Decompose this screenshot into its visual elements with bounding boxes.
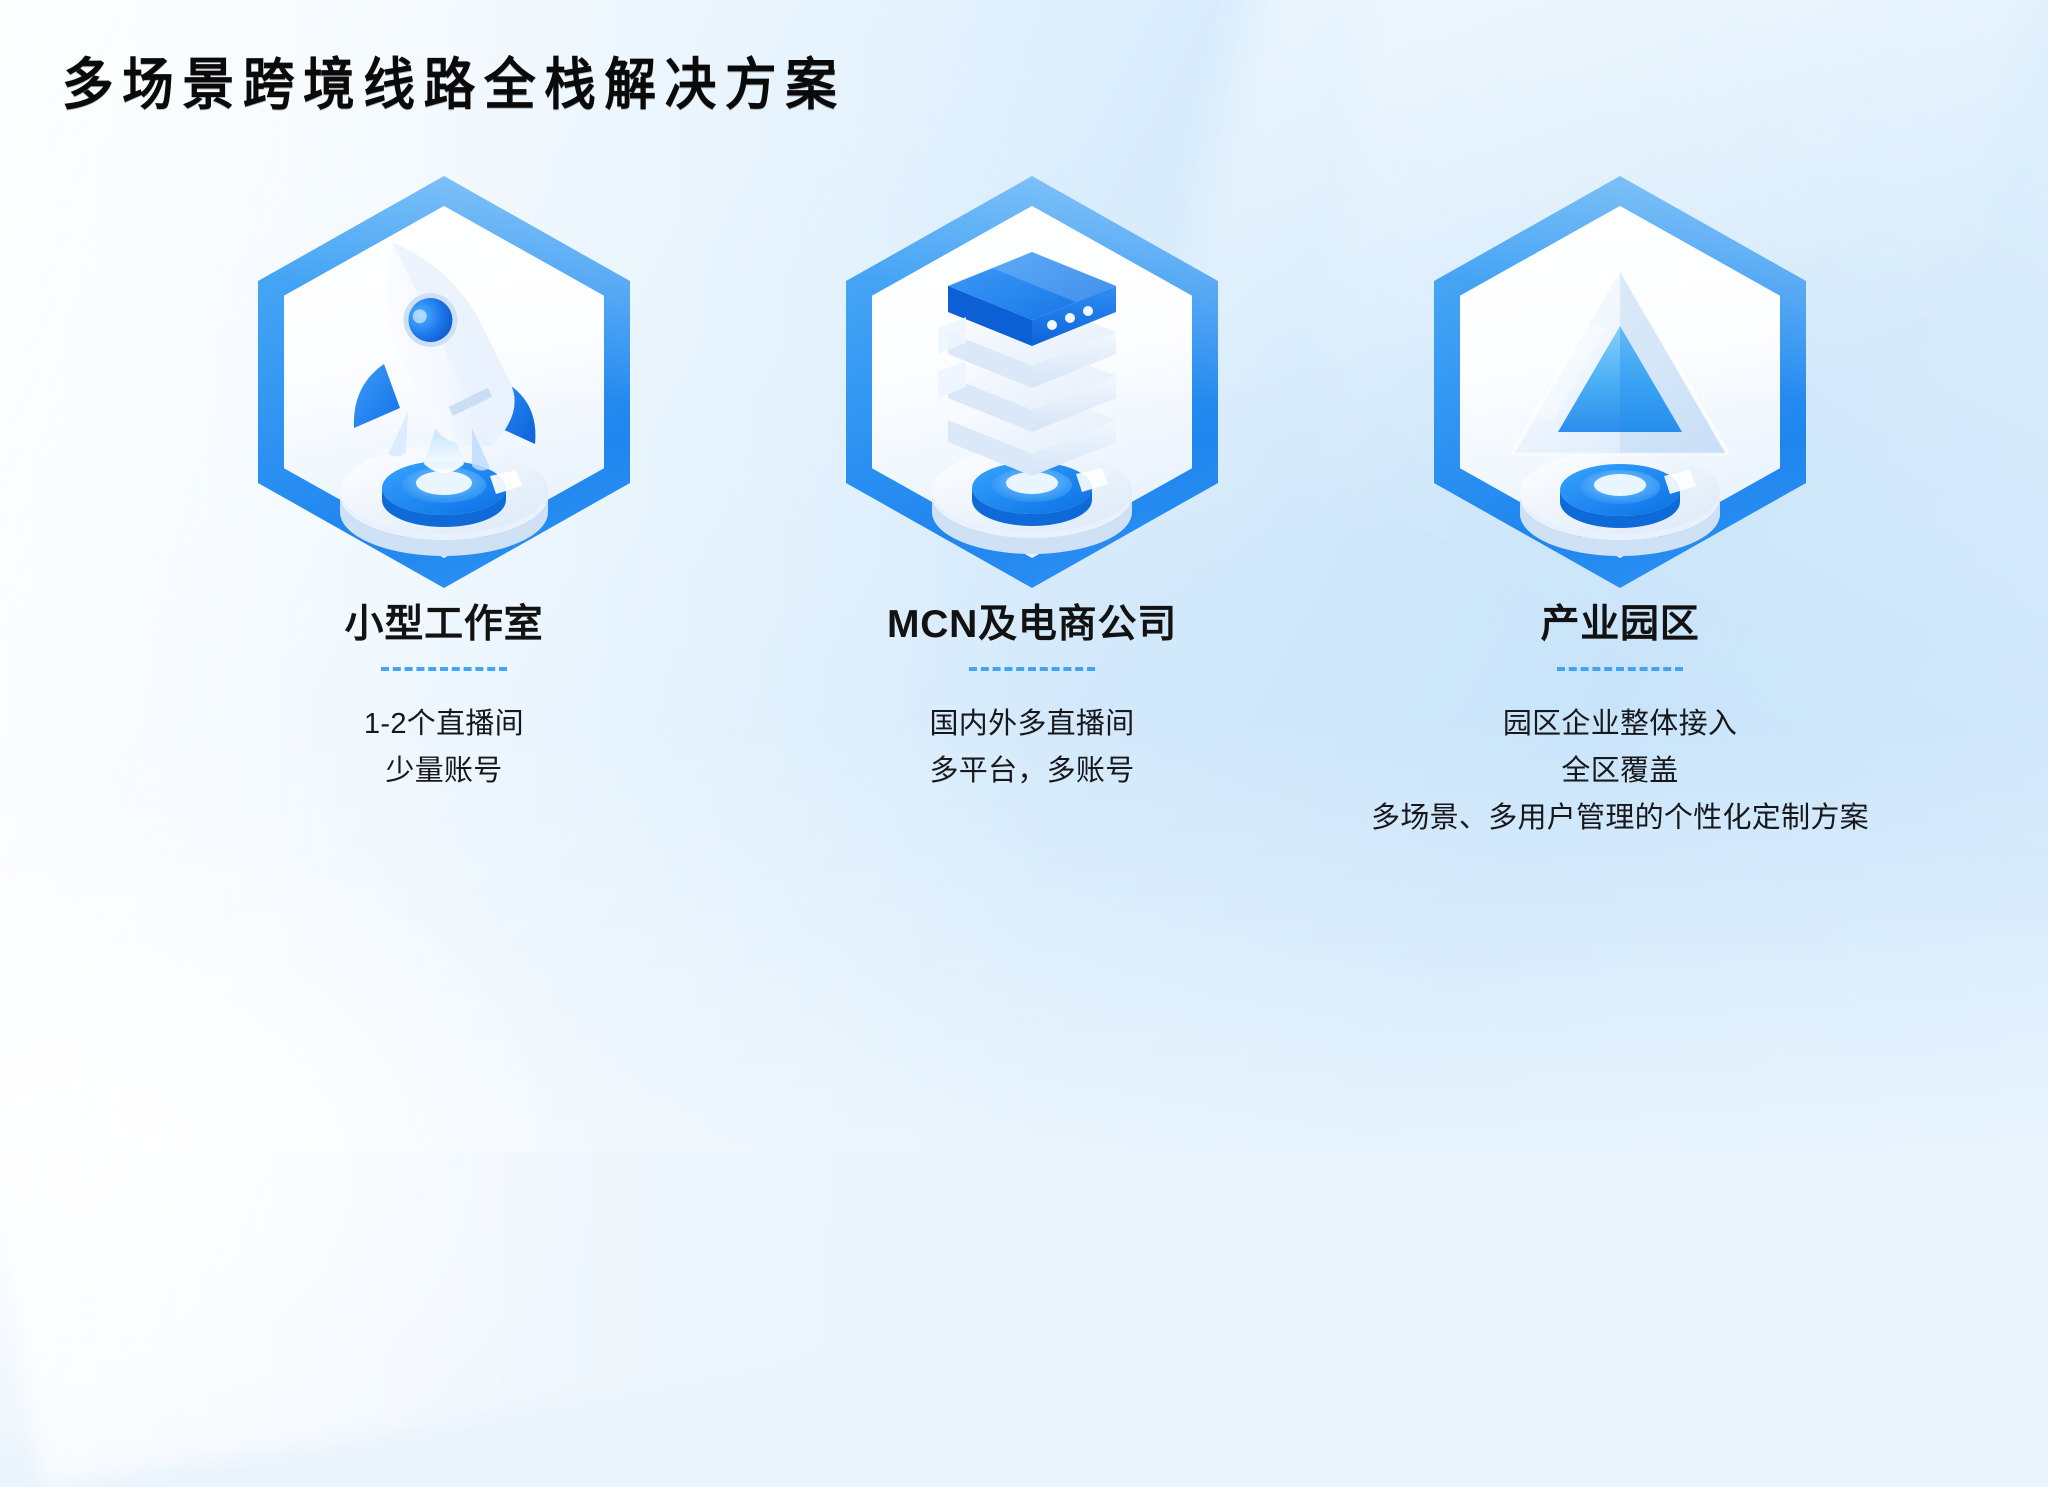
card-divider (381, 667, 507, 671)
description-line: 全区覆盖 (1371, 748, 1869, 795)
card-divider (969, 667, 1095, 671)
description-line: 国内外多直播间 (929, 701, 1134, 748)
scenario-card-small-studio[interactable]: 小型工作室 1-2个直播间 少量账号 (150, 176, 738, 795)
card-title: MCN及电商公司 (887, 602, 1177, 649)
description-line: 少量账号 (364, 748, 524, 795)
card-description: 园区企业整体接入 全区覆盖 多场景、多用户管理的个性化定制方案 (1371, 701, 1869, 842)
card-title: 小型工作室 (345, 602, 544, 649)
description-line: 1-2个直播间 (364, 701, 524, 748)
page-title: 多场景跨境线路全栈解决方案 (62, 54, 846, 116)
card-divider (1557, 667, 1683, 671)
pyramid-badge-icon (1434, 176, 1806, 588)
card-description: 1-2个直播间 少量账号 (364, 701, 524, 795)
rocket-badge-icon (258, 176, 630, 588)
scenario-card-industrial-park[interactable]: 产业园区 园区企业整体接入 全区覆盖 多场景、多用户管理的个性化定制方案 (1326, 176, 1914, 842)
description-line: 多场景、多用户管理的个性化定制方案 (1371, 795, 1869, 842)
background-glow-bottom-left (0, 737, 655, 1451)
pyramid-illustration (1434, 176, 1806, 588)
server-stack-illustration (846, 176, 1218, 588)
scenario-card-row: 小型工作室 1-2个直播间 少量账号 (0, 176, 2048, 842)
rocket-illustration (258, 176, 630, 588)
card-description: 国内外多直播间 多平台，多账号 (929, 701, 1134, 795)
description-line: 多平台，多账号 (929, 748, 1134, 795)
card-title: 产业园区 (1540, 602, 1699, 649)
scenario-card-mcn-ecommerce[interactable]: MCN及电商公司 国内外多直播间 多平台，多账号 (738, 176, 1326, 795)
server-stack-badge-icon (846, 176, 1218, 588)
description-line: 园区企业整体接入 (1371, 701, 1869, 748)
